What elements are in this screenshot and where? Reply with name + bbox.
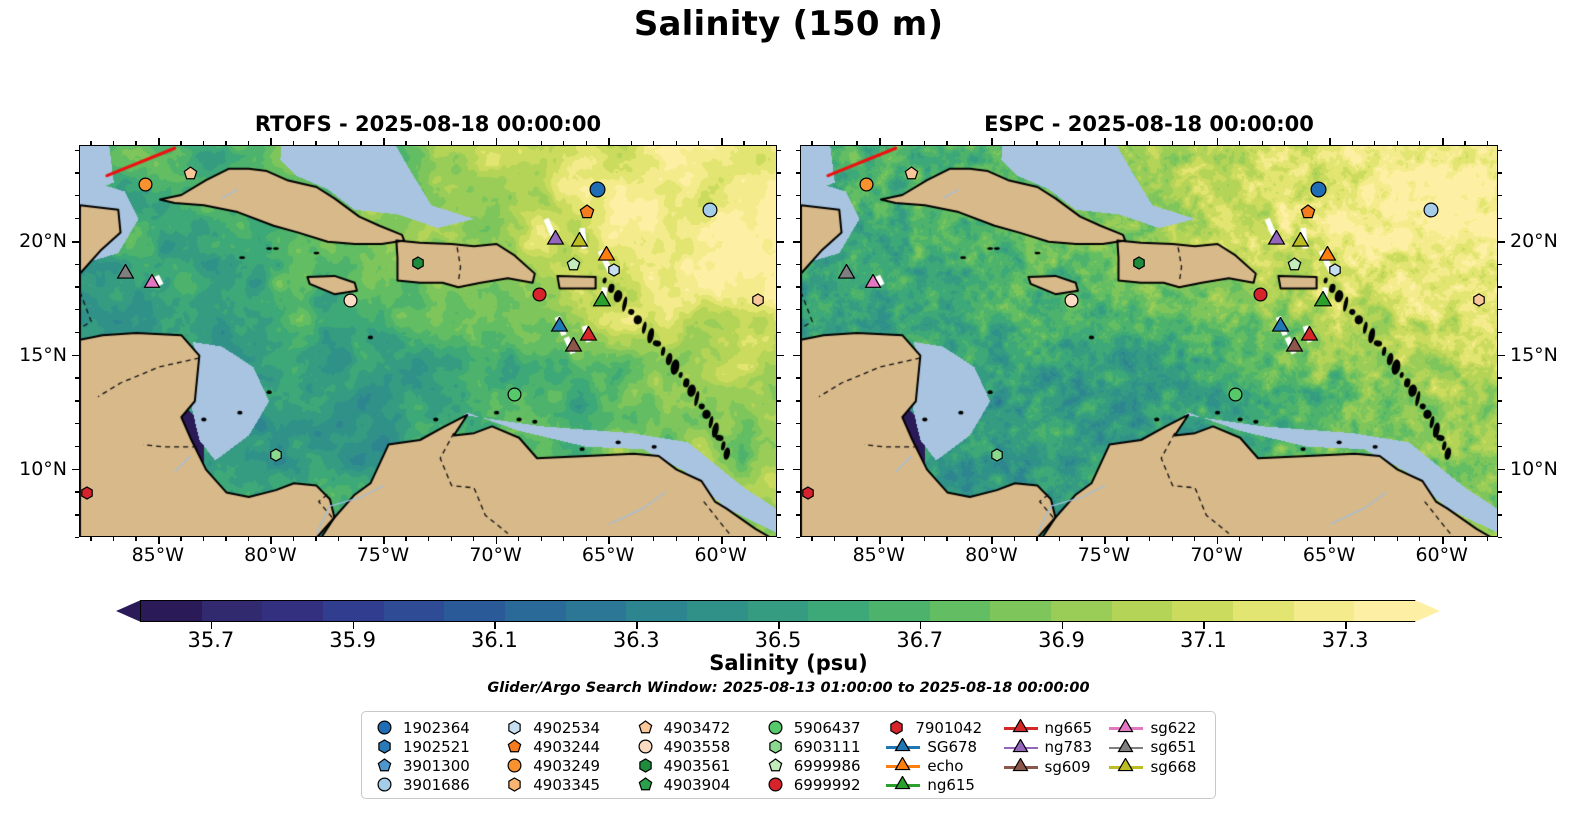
panel-rtofs: RTOFS - 2025-08-18 00:00:00 85°W80°W75°W…: [79, 145, 777, 537]
ytick-minor: [75, 400, 79, 401]
colorbar-tick-label: 37.1: [1180, 628, 1227, 652]
xtick-top-minor: [586, 141, 587, 145]
triangle-marker-icon: [886, 775, 920, 794]
xtick-minor: [1307, 537, 1308, 541]
legend-item-6999986[interactable]: 6999986: [765, 756, 887, 775]
xtick-minor: [1374, 537, 1375, 541]
legend-label: 1902364: [403, 719, 470, 737]
ytick-minor: [75, 150, 79, 151]
circle-marker-icon: [504, 756, 526, 775]
legend-label: sg609: [1045, 758, 1091, 776]
xtick-top-minor: [1262, 141, 1263, 145]
ytick-label: 20°N: [1510, 230, 1558, 252]
triangle-marker-icon: [1109, 738, 1143, 757]
ytick-right-minor: [1498, 491, 1502, 492]
xtick-top-minor: [518, 141, 519, 145]
map-marker-7901042[interactable]: [801, 485, 815, 499]
xtick-minor: [811, 537, 812, 541]
legend-item-sg668[interactable]: sg668: [1109, 757, 1205, 777]
ytick-right-minor: [777, 332, 781, 333]
xtick-top-minor: [946, 141, 947, 145]
xtick-minor: [360, 537, 361, 541]
xtick-top-major: [158, 138, 160, 145]
legend-column: 5906437690311169999866999992: [765, 718, 887, 794]
xtick-top-minor: [1487, 141, 1488, 145]
ytick-minor: [796, 150, 800, 151]
legend-label: 4903249: [533, 757, 600, 775]
legend-item-sg651[interactable]: sg651: [1109, 738, 1205, 758]
xtick-top-major: [1442, 138, 1444, 145]
map-marker-sg651[interactable]: [837, 264, 856, 283]
xtick-top-minor: [1081, 141, 1082, 145]
pentagon-marker-icon: [635, 775, 657, 794]
legend-item-ng665[interactable]: ng665: [1004, 718, 1110, 738]
ytick-right-minor: [1498, 309, 1502, 310]
legend-label: 3901686: [403, 776, 470, 794]
ytick-minor: [796, 514, 800, 515]
xtick-major: [879, 537, 881, 544]
ytick-right-major: [1498, 355, 1505, 357]
xtick-top-minor: [1014, 141, 1015, 145]
ytick-right-major: [777, 469, 784, 471]
ytick-right-minor: [1498, 150, 1502, 151]
ytick-minor: [75, 218, 79, 219]
xtick-top-minor: [428, 141, 429, 145]
map-marker-4903472[interactable]: [904, 166, 919, 181]
xtick-top-minor: [315, 141, 316, 145]
xtick-top-minor: [225, 141, 226, 145]
ytick-minor: [75, 195, 79, 196]
xtick-minor: [1059, 537, 1060, 541]
ytick-minor: [796, 264, 800, 265]
ytick-right-minor: [777, 537, 781, 538]
xtick-top-minor: [1464, 141, 1465, 145]
ytick-right-minor: [777, 491, 781, 492]
xtick-minor: [834, 537, 835, 541]
legend-label: 6903111: [794, 738, 861, 756]
circle-marker-icon: [635, 737, 657, 756]
colorbar-swatch: [202, 601, 263, 621]
xtick-minor: [1262, 537, 1263, 541]
xtick-minor: [946, 537, 947, 541]
xtick-minor: [653, 537, 654, 541]
ytick-right-minor: [1498, 264, 1502, 265]
xtick-minor: [1352, 537, 1353, 541]
colorbar-tick-label: 36.1: [471, 628, 518, 652]
legend-label: sg668: [1150, 758, 1196, 776]
legend-item-sg609[interactable]: sg609: [1004, 757, 1110, 777]
ytick-minor: [796, 218, 800, 219]
map-marker-SG678[interactable]: [550, 317, 569, 336]
map-marker-6999986[interactable]: [566, 257, 581, 272]
map-rtofs[interactable]: [79, 145, 777, 537]
legend-label: 4903345: [533, 776, 600, 794]
xtick-top-minor: [743, 141, 744, 145]
xtick-top-minor: [811, 141, 812, 145]
colorbar-swatch: [141, 601, 202, 621]
legend-item-1902521[interactable]: 1902521: [374, 737, 504, 756]
ytick-minor: [75, 514, 79, 515]
legend-item-SG678[interactable]: SG678: [886, 737, 1003, 756]
xtick-top-minor: [676, 141, 677, 145]
legend-column: 1902364190252139013003901686: [374, 718, 504, 794]
xtick-minor: [405, 537, 406, 541]
legend-item-4903244[interactable]: 4903244: [504, 737, 634, 756]
xtick-top-minor: [248, 141, 249, 145]
xtick-top-minor: [473, 141, 474, 145]
legend-item-ng783[interactable]: ng783: [1004, 738, 1110, 758]
legend-item-1902364[interactable]: 1902364: [374, 718, 504, 737]
colorbar-swatch: [444, 601, 505, 621]
xtick-minor: [1014, 537, 1015, 541]
map-espc-canvas: [801, 146, 1498, 537]
map-marker-6999986[interactable]: [1287, 257, 1302, 272]
xtick-major: [496, 537, 498, 544]
map-marker-ng615[interactable]: [592, 291, 612, 311]
ytick-minor: [75, 423, 79, 424]
colorbar-swatch: [808, 601, 869, 621]
xtick-label: 75°W: [1078, 544, 1130, 566]
xtick-minor: [1194, 537, 1195, 541]
ytick-minor: [796, 491, 800, 492]
legend-item-4903558[interactable]: 4903558: [635, 737, 765, 756]
ytick-minor: [75, 309, 79, 310]
colorbar-swatch: [1112, 601, 1173, 621]
legend-label: 4903558: [664, 738, 731, 756]
xtick-minor: [969, 537, 970, 541]
ytick-label: 10°N: [19, 458, 67, 480]
legend-item-4903345[interactable]: 4903345: [504, 775, 634, 794]
triangle-marker-icon: [886, 756, 920, 775]
xtick-minor: [203, 537, 204, 541]
ytick-minor: [75, 264, 79, 265]
ytick-right-minor: [777, 309, 781, 310]
colorbar-over-arrow: [1415, 600, 1440, 622]
colorbar-swatch: [505, 601, 566, 621]
xtick-top-minor: [541, 141, 542, 145]
xtick-minor: [856, 537, 857, 541]
colorbar: [116, 600, 1440, 622]
pentagon-marker-icon: [504, 737, 526, 756]
map-marker-6999992[interactable]: [532, 287, 547, 302]
xtick-top-minor: [969, 141, 970, 145]
xtick-top-minor: [1284, 141, 1285, 145]
ytick-minor: [796, 309, 800, 310]
ytick-minor: [796, 332, 800, 333]
colorbar-tick-label: 36.9: [1038, 628, 1085, 652]
ytick-major: [72, 355, 79, 357]
hexagon-marker-icon: [374, 737, 396, 756]
xtick-top-minor: [653, 141, 654, 145]
legend-item-4903472[interactable]: 4903472: [635, 718, 765, 737]
map-marker-4902534[interactable]: [607, 262, 621, 276]
xtick-top-minor: [924, 141, 925, 145]
ytick-right-major: [1498, 469, 1505, 471]
map-marker-4903249[interactable]: [138, 177, 153, 192]
ytick-label: 15°N: [19, 344, 67, 366]
legend-item-4903249[interactable]: 4903249: [504, 756, 634, 775]
map-marker-4903558[interactable]: [1064, 293, 1079, 308]
xtick-label: 85°W: [853, 544, 905, 566]
ytick-minor: [75, 537, 79, 538]
triangle-marker-icon: [1004, 757, 1038, 776]
xtick-minor: [743, 537, 744, 541]
xtick-top-minor: [901, 141, 902, 145]
xtick-top-minor: [631, 141, 632, 145]
xtick-top-major: [270, 138, 272, 145]
xtick-major: [1329, 537, 1331, 544]
legend-label: sg622: [1150, 719, 1196, 737]
xtick-top-minor: [1397, 141, 1398, 145]
pentagon-marker-icon: [635, 718, 657, 737]
map-marker-4903472b[interactable]: [751, 292, 765, 306]
colorbar-swatch: [748, 601, 809, 621]
xtick-major: [608, 537, 610, 544]
ytick-right-minor: [1498, 514, 1502, 515]
map-marker-6903111[interactable]: [269, 447, 283, 461]
map-marker-4903558[interactable]: [343, 293, 358, 308]
legend-label: ng783: [1045, 738, 1093, 756]
map-marker-ng783[interactable]: [546, 230, 565, 249]
map-marker-1902364[interactable]: [589, 181, 606, 198]
map-marker-sg609[interactable]: [564, 337, 583, 356]
pentagon-marker-icon: [374, 756, 396, 775]
xtick-top-major: [1329, 138, 1331, 145]
ytick-major: [793, 469, 800, 471]
legend-item-echo[interactable]: echo: [886, 756, 1003, 775]
legend-label: SG678: [927, 738, 977, 756]
map-marker-6903111[interactable]: [990, 447, 1004, 461]
legend-item-3901300[interactable]: 3901300: [374, 756, 504, 775]
ytick-right-minor: [777, 264, 781, 265]
legend-item-5906437[interactable]: 5906437: [765, 718, 887, 737]
map-marker-sg668[interactable]: [570, 232, 589, 251]
xtick-label: 70°W: [469, 544, 521, 566]
map-marker-SG678[interactable]: [1271, 317, 1290, 336]
colorbar-tick-label: 36.5: [755, 628, 802, 652]
xtick-minor: [338, 537, 339, 541]
xtick-top-minor: [135, 141, 136, 145]
xtick-minor: [1172, 537, 1173, 541]
map-marker-4903249[interactable]: [859, 177, 874, 192]
ytick-right-minor: [1498, 537, 1502, 538]
ytick-minor: [796, 286, 800, 287]
ytick-major: [793, 355, 800, 357]
map-rtofs-canvas: [80, 146, 777, 537]
map-marker-1902364[interactable]: [1310, 181, 1327, 198]
ytick-minor: [796, 537, 800, 538]
ytick-right-major: [1498, 241, 1505, 243]
xtick-minor: [293, 537, 294, 541]
xtick-minor: [1149, 537, 1150, 541]
colorbar-tick-label: 37.3: [1322, 628, 1369, 652]
ytick-minor: [75, 332, 79, 333]
xtick-major: [383, 537, 385, 544]
xtick-top-minor: [1059, 141, 1060, 145]
map-marker-sg651[interactable]: [116, 264, 135, 283]
colorbar-swatch: [1233, 601, 1294, 621]
colorbar-swatch: [687, 601, 748, 621]
legend-item-4903904[interactable]: 4903904: [635, 775, 765, 794]
map-marker-ng783[interactable]: [1267, 230, 1286, 249]
map-marker-4903244[interactable]: [579, 204, 595, 220]
legend-label: sg651: [1150, 738, 1196, 756]
legend-label: 7901042: [915, 719, 982, 737]
ytick-minor: [796, 172, 800, 173]
legend-column: sg622sg651sg668: [1109, 718, 1205, 794]
xtick-major: [270, 537, 272, 544]
xtick-minor: [428, 537, 429, 541]
legend-item-6999992[interactable]: 6999992: [765, 775, 887, 794]
ytick-label: 10°N: [1510, 458, 1558, 480]
panel-rtofs-title: RTOFS - 2025-08-18 00:00:00: [79, 112, 777, 136]
xtick-top-minor: [563, 141, 564, 145]
xtick-minor: [1036, 537, 1037, 541]
legend-label: echo: [927, 757, 963, 775]
map-marker-sg609[interactable]: [1285, 337, 1304, 356]
ytick-minor: [75, 491, 79, 492]
xtick-minor: [113, 537, 114, 541]
legend-column: 4902534490324449032494903345: [504, 718, 634, 794]
xtick-top-major: [721, 138, 723, 145]
panel-espc: ESPC - 2025-08-18 00:00:00 85°W80°W75°W7…: [800, 145, 1498, 537]
xtick-major: [1217, 537, 1219, 544]
ytick-minor: [75, 172, 79, 173]
colorbar-tick-label: 36.3: [613, 628, 660, 652]
legend[interactable]: 1902364190252139013003901686490253449032…: [361, 711, 1216, 799]
legend-item-4903561[interactable]: 4903561: [635, 756, 765, 775]
colorbar-tick-label: 35.7: [187, 628, 234, 652]
legend-item-6903111[interactable]: 6903111: [765, 737, 887, 756]
ytick-right-minor: [777, 286, 781, 287]
xtick-top-minor: [698, 141, 699, 145]
legend-column: 4903472490355849035614903904: [635, 718, 765, 794]
ytick-label: 20°N: [19, 230, 67, 252]
map-marker-3901686[interactable]: [702, 202, 718, 218]
triangle-marker-icon: [1109, 757, 1143, 776]
xtick-minor: [1239, 537, 1240, 541]
legend-item-3901686[interactable]: 3901686: [374, 775, 504, 794]
map-marker-ng615[interactable]: [1313, 291, 1333, 311]
legend-label: 1902521: [403, 738, 470, 756]
colorbar-body: [140, 600, 1416, 622]
ytick-right-minor: [777, 195, 781, 196]
xtick-top-major: [608, 138, 610, 145]
legend-item-4902534[interactable]: 4902534: [504, 718, 634, 737]
map-marker-4903472b[interactable]: [1472, 292, 1486, 306]
map-marker-sg622[interactable]: [143, 274, 161, 292]
xtick-minor: [901, 537, 902, 541]
map-marker-sg622[interactable]: [864, 274, 882, 292]
ytick-minor: [75, 377, 79, 378]
xtick-top-minor: [834, 141, 835, 145]
colorbar-title: Salinity (psu): [0, 651, 1577, 675]
xtick-minor: [563, 537, 564, 541]
ytick-right-minor: [1498, 195, 1502, 196]
ytick-minor: [75, 286, 79, 287]
colorbar-swatch: [323, 601, 384, 621]
triangle-marker-icon: [1109, 718, 1143, 737]
circle-marker-icon: [374, 775, 396, 794]
xtick-top-minor: [766, 141, 767, 145]
xtick-top-minor: [1194, 141, 1195, 145]
legend-item-sg622[interactable]: sg622: [1109, 718, 1205, 738]
legend-item-ng615[interactable]: ng615: [886, 775, 1003, 794]
map-marker-4902534[interactable]: [1328, 262, 1342, 276]
map-marker-6999992[interactable]: [1253, 287, 1268, 302]
ytick-minor: [796, 195, 800, 196]
colorbar-swatch: [1294, 601, 1355, 621]
ytick-right-minor: [777, 150, 781, 151]
ytick-right-minor: [1498, 446, 1502, 447]
xtick-minor: [1284, 537, 1285, 541]
xtick-minor: [1081, 537, 1082, 541]
panel-espc-title: ESPC - 2025-08-18 00:00:00: [800, 112, 1498, 136]
xtick-minor: [135, 537, 136, 541]
ytick-right-minor: [1498, 332, 1502, 333]
ytick-right-minor: [1498, 423, 1502, 424]
map-espc[interactable]: [800, 145, 1498, 537]
ytick-right-minor: [1498, 400, 1502, 401]
xtick-minor: [180, 537, 181, 541]
circle-marker-icon: [374, 718, 396, 737]
xtick-minor: [1397, 537, 1398, 541]
xtick-label: 75°W: [357, 544, 409, 566]
legend-item-7901042[interactable]: 7901042: [886, 718, 1003, 737]
ytick-right-minor: [1498, 218, 1502, 219]
xtick-label: 65°W: [582, 544, 634, 566]
map-marker-4903244[interactable]: [1300, 204, 1316, 220]
legend-column: ng665ng783sg609: [1004, 718, 1110, 794]
xtick-label: 85°W: [132, 544, 184, 566]
colorbar-swatch: [930, 601, 991, 621]
xtick-top-major: [496, 138, 498, 145]
ytick-right-major: [777, 355, 784, 357]
triangle-marker-icon: [886, 737, 920, 756]
ytick-minor: [796, 423, 800, 424]
legend-label: 3901300: [403, 757, 470, 775]
map-marker-sg668[interactable]: [1291, 232, 1310, 251]
legend-label: ng615: [927, 776, 975, 794]
map-marker-4903472[interactable]: [183, 166, 198, 181]
triangle-marker-icon: [1004, 718, 1038, 737]
xtick-minor: [631, 537, 632, 541]
xtick-minor: [676, 537, 677, 541]
map-marker-7901042[interactable]: [80, 485, 94, 499]
xtick-top-minor: [1374, 141, 1375, 145]
colorbar-swatch: [869, 601, 930, 621]
map-marker-4903561[interactable]: [411, 255, 425, 269]
xtick-major: [991, 537, 993, 544]
map-marker-5906437[interactable]: [1228, 387, 1243, 402]
ytick-label: 15°N: [1510, 344, 1558, 366]
xtick-top-minor: [338, 141, 339, 145]
xtick-label: 80°W: [244, 544, 296, 566]
map-marker-3901686[interactable]: [1423, 202, 1439, 218]
colorbar-swatch: [990, 601, 1051, 621]
ytick-right-minor: [777, 423, 781, 424]
xtick-major: [721, 537, 723, 544]
xtick-label: 80°W: [965, 544, 1017, 566]
legend-column: 7901042SG678echong615: [886, 718, 1003, 794]
map-marker-4903561[interactable]: [1132, 255, 1146, 269]
legend-label: 4903244: [533, 738, 600, 756]
xtick-top-minor: [1126, 141, 1127, 145]
map-marker-5906437[interactable]: [507, 387, 522, 402]
colorbar-swatch: [262, 601, 323, 621]
ytick-right-minor: [1498, 172, 1502, 173]
xtick-minor: [924, 537, 925, 541]
